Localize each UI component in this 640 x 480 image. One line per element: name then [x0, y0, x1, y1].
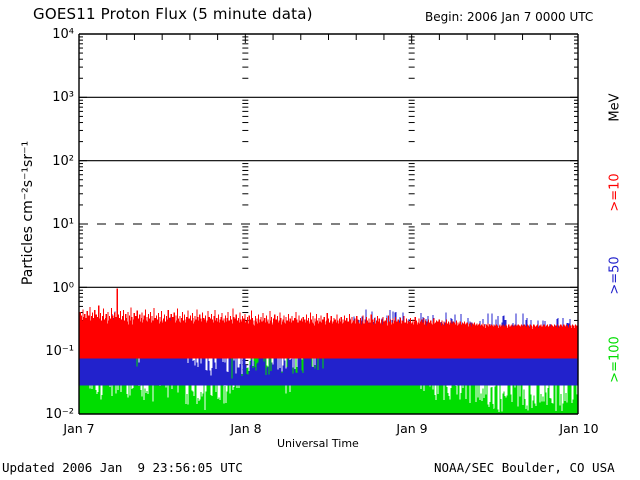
goes-proton-flux-plot: GOES11 Proton Flux (5 minute data) Begin…: [0, 0, 640, 480]
plot-canvas: [0, 0, 640, 480]
